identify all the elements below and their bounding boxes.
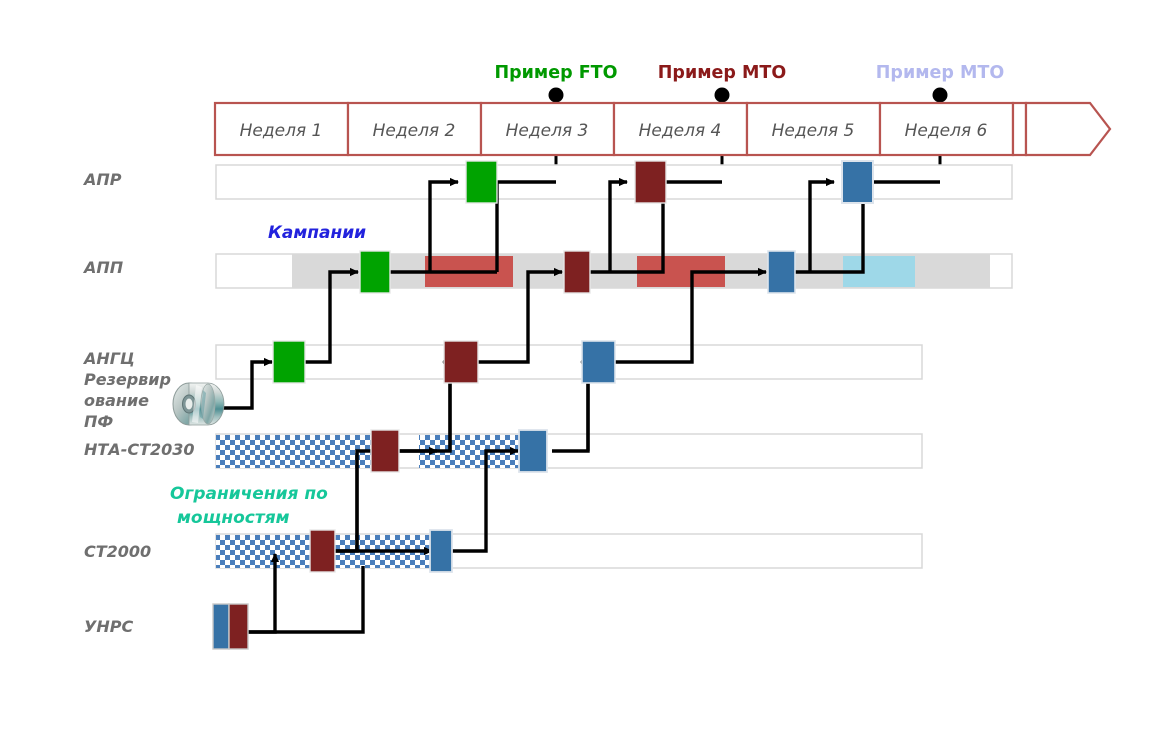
- row-label-angc-l4: ПФ: [84, 412, 113, 431]
- row-label-angc: АНГЦ Резервир ование ПФ: [82, 349, 171, 431]
- block-app-blue[interactable]: [768, 251, 795, 293]
- diagram-canvas: Пример FTO Пример МТО Пример МТО Неделя …: [0, 0, 1173, 742]
- row-label-app: АПП: [82, 258, 124, 277]
- week-label-6: Неделя 6: [905, 121, 988, 141]
- block-apr-blue[interactable]: [842, 161, 873, 203]
- block-nta-blue[interactable]: [519, 430, 547, 472]
- block-nta-darkred[interactable]: [371, 430, 399, 472]
- week-label-1: Неделя 1: [240, 121, 323, 141]
- milestone-dot-2: [715, 88, 730, 103]
- milestone-label-3: Пример МТО: [876, 63, 1004, 83]
- block-angc-green[interactable]: [273, 341, 305, 383]
- block-st2000-blue[interactable]: [430, 530, 452, 572]
- row-label-angc-l2: Резервир: [84, 370, 171, 389]
- week-cell-gap: [1013, 103, 1026, 155]
- block-app-green[interactable]: [360, 251, 390, 293]
- steel-coil-icon: [173, 383, 224, 425]
- row-label-st2000: СТ2000: [84, 542, 151, 561]
- annotation-campaigns: Кампании: [268, 223, 366, 243]
- block-angc-darkred[interactable]: [444, 341, 478, 383]
- week-label-3: Неделя 3: [506, 121, 589, 141]
- block-angc-blue[interactable]: [582, 341, 615, 383]
- week-label-4: Неделя 4: [639, 121, 722, 141]
- checker-bar-st-1[interactable]: [216, 535, 311, 568]
- week-label-2: Неделя 2: [373, 121, 456, 141]
- row-label-angc-l1: АНГЦ: [82, 349, 135, 368]
- timeline-end-arrow: [1026, 103, 1110, 155]
- milestone-label-1: Пример FTO: [495, 63, 618, 83]
- row-label-nta: НТА-СТ2030: [84, 440, 195, 459]
- annotation-capacity-line2: мощностям: [177, 508, 290, 528]
- block-unrs-blue[interactable]: [213, 604, 229, 649]
- milestone-label-2: Пример МТО: [658, 63, 786, 83]
- row-label-angc-l3: ование: [84, 391, 149, 410]
- block-unrs-darkred[interactable]: [229, 604, 248, 649]
- milestone-dot-1: [549, 88, 564, 103]
- row-label-unrs: УНРС: [84, 617, 133, 636]
- annotation-capacity-line1: Ограничения по: [170, 484, 328, 504]
- block-apr-green[interactable]: [466, 161, 497, 203]
- timeline-header: Неделя 1 Неделя 2 Неделя 3 Неделя 4 Неде…: [215, 103, 1110, 155]
- block-app-darkred[interactable]: [564, 251, 590, 293]
- row-label-apr: АПР: [82, 170, 122, 189]
- milestone-dot-3: [933, 88, 948, 103]
- checker-bar-nta-1[interactable]: [216, 435, 371, 468]
- block-st2000-darkred[interactable]: [310, 530, 335, 572]
- week-label-5: Неделя 5: [772, 121, 855, 141]
- block-apr-darkred[interactable]: [635, 161, 666, 203]
- blocks-unrs: [213, 604, 248, 649]
- connector-unrs-st2000-a: [248, 566, 363, 632]
